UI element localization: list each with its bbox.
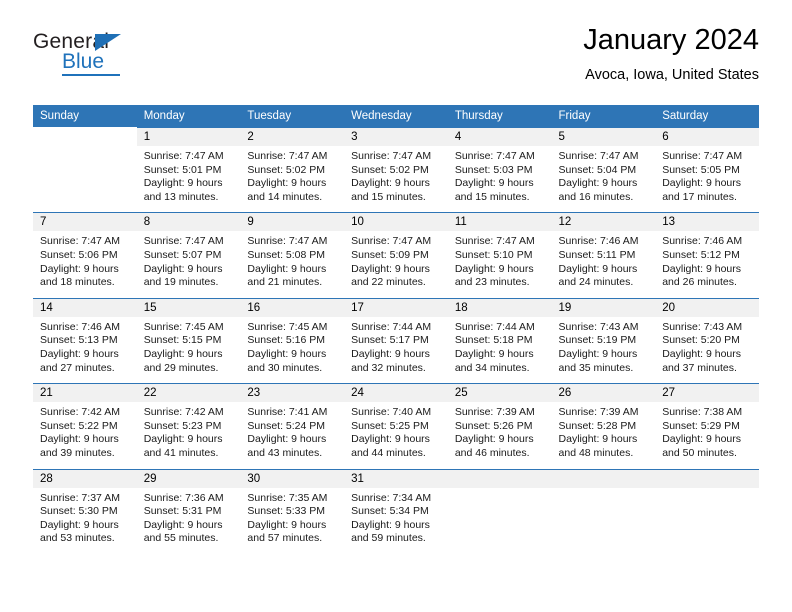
day-sun-info: Sunrise: 7:40 AMSunset: 5:25 PMDaylight:… bbox=[344, 402, 448, 468]
sunset-text: Sunset: 5:28 PM bbox=[559, 420, 652, 434]
calendar-day[interactable]: 7Sunrise: 7:47 AMSunset: 5:06 PMDaylight… bbox=[33, 212, 137, 297]
day-number: 17 bbox=[344, 299, 448, 317]
daylight-text-line2: and 29 minutes. bbox=[144, 362, 237, 376]
daylight-text-line2: and 24 minutes. bbox=[559, 276, 652, 290]
day-sun-info: Sunrise: 7:47 AMSunset: 5:01 PMDaylight:… bbox=[137, 146, 241, 212]
daylight-text-line1: Daylight: 9 hours bbox=[351, 348, 444, 362]
calendar-header: Sunday Monday Tuesday Wednesday Thursday… bbox=[33, 105, 759, 127]
daylight-text-line2: and 30 minutes. bbox=[247, 362, 340, 376]
daylight-text-line2: and 34 minutes. bbox=[455, 362, 548, 376]
sunset-text: Sunset: 5:22 PM bbox=[40, 420, 133, 434]
calendar-cell: 23Sunrise: 7:41 AMSunset: 5:24 PMDayligh… bbox=[240, 383, 344, 468]
sunrise-text: Sunrise: 7:47 AM bbox=[247, 150, 340, 164]
day-number: 14 bbox=[33, 299, 137, 317]
day-number: 8 bbox=[137, 213, 241, 231]
calendar-cell: 7Sunrise: 7:47 AMSunset: 5:06 PMDaylight… bbox=[33, 212, 137, 297]
day-number bbox=[33, 127, 137, 145]
calendar-cell: 29Sunrise: 7:36 AMSunset: 5:31 PMDayligh… bbox=[137, 469, 241, 554]
day-sun-info: Sunrise: 7:35 AMSunset: 5:33 PMDaylight:… bbox=[240, 488, 344, 554]
calendar-week-row: 21Sunrise: 7:42 AMSunset: 5:22 PMDayligh… bbox=[33, 383, 759, 468]
calendar-body: 1Sunrise: 7:47 AMSunset: 5:01 PMDaylight… bbox=[33, 127, 759, 554]
daylight-text-line1: Daylight: 9 hours bbox=[455, 348, 548, 362]
calendar-cell bbox=[552, 469, 656, 554]
sunset-text: Sunset: 5:02 PM bbox=[351, 164, 444, 178]
calendar-day[interactable]: 30Sunrise: 7:35 AMSunset: 5:33 PMDayligh… bbox=[240, 469, 344, 554]
day-sun-info: Sunrise: 7:47 AMSunset: 5:02 PMDaylight:… bbox=[344, 146, 448, 212]
sunset-text: Sunset: 5:19 PM bbox=[559, 334, 652, 348]
page-header: General Blue January 2024 Avoca, Iowa, U… bbox=[33, 22, 759, 94]
calendar-day[interactable]: 18Sunrise: 7:44 AMSunset: 5:18 PMDayligh… bbox=[448, 298, 552, 383]
day-number bbox=[552, 470, 656, 488]
daylight-text-line1: Daylight: 9 hours bbox=[351, 263, 444, 277]
daylight-text-line2: and 18 minutes. bbox=[40, 276, 133, 290]
daylight-text-line1: Daylight: 9 hours bbox=[40, 519, 133, 533]
daylight-text-line2: and 37 minutes. bbox=[662, 362, 755, 376]
weekday-header-saturday: Saturday bbox=[655, 105, 759, 127]
daylight-text-line1: Daylight: 9 hours bbox=[662, 433, 755, 447]
day-sun-info: Sunrise: 7:47 AMSunset: 5:09 PMDaylight:… bbox=[344, 231, 448, 297]
calendar-day[interactable]: 28Sunrise: 7:37 AMSunset: 5:30 PMDayligh… bbox=[33, 469, 137, 554]
day-sun-info: Sunrise: 7:39 AMSunset: 5:26 PMDaylight:… bbox=[448, 402, 552, 468]
sunset-text: Sunset: 5:01 PM bbox=[144, 164, 237, 178]
sunrise-text: Sunrise: 7:47 AM bbox=[351, 150, 444, 164]
calendar-cell bbox=[448, 469, 552, 554]
sunrise-text: Sunrise: 7:46 AM bbox=[40, 321, 133, 335]
calendar-cell: 6Sunrise: 7:47 AMSunset: 5:05 PMDaylight… bbox=[655, 127, 759, 212]
day-number: 23 bbox=[240, 384, 344, 402]
calendar-day[interactable]: 19Sunrise: 7:43 AMSunset: 5:19 PMDayligh… bbox=[552, 298, 656, 383]
day-number: 29 bbox=[137, 470, 241, 488]
calendar-day[interactable]: 26Sunrise: 7:39 AMSunset: 5:28 PMDayligh… bbox=[552, 383, 656, 468]
location-subtitle: Avoca, Iowa, United States bbox=[583, 64, 759, 86]
calendar-day[interactable]: 20Sunrise: 7:43 AMSunset: 5:20 PMDayligh… bbox=[655, 298, 759, 383]
sunrise-sunset-calendar: Sunday Monday Tuesday Wednesday Thursday… bbox=[33, 105, 759, 554]
daylight-text-line2: and 43 minutes. bbox=[247, 447, 340, 461]
page-title: January 2024 bbox=[583, 22, 759, 58]
calendar-day[interactable]: 10Sunrise: 7:47 AMSunset: 5:09 PMDayligh… bbox=[344, 212, 448, 297]
daylight-text-line2: and 39 minutes. bbox=[40, 447, 133, 461]
sunset-text: Sunset: 5:34 PM bbox=[351, 505, 444, 519]
day-sun-info: Sunrise: 7:39 AMSunset: 5:28 PMDaylight:… bbox=[552, 402, 656, 468]
day-number: 9 bbox=[240, 213, 344, 231]
daylight-text-line2: and 27 minutes. bbox=[40, 362, 133, 376]
weekday-header-row: Sunday Monday Tuesday Wednesday Thursday… bbox=[33, 105, 759, 127]
day-sun-info: Sunrise: 7:37 AMSunset: 5:30 PMDaylight:… bbox=[33, 488, 137, 554]
sunrise-text: Sunrise: 7:47 AM bbox=[662, 150, 755, 164]
calendar-day[interactable]: 13Sunrise: 7:46 AMSunset: 5:12 PMDayligh… bbox=[655, 212, 759, 297]
sunset-text: Sunset: 5:08 PM bbox=[247, 249, 340, 263]
sunset-text: Sunset: 5:15 PM bbox=[144, 334, 237, 348]
day-number: 31 bbox=[344, 470, 448, 488]
calendar-day[interactable]: 14Sunrise: 7:46 AMSunset: 5:13 PMDayligh… bbox=[33, 298, 137, 383]
daylight-text-line2: and 15 minutes. bbox=[455, 191, 548, 205]
sunset-text: Sunset: 5:18 PM bbox=[455, 334, 548, 348]
day-sun-info: Sunrise: 7:38 AMSunset: 5:29 PMDaylight:… bbox=[655, 402, 759, 468]
day-sun-info: Sunrise: 7:47 AMSunset: 5:08 PMDaylight:… bbox=[240, 231, 344, 297]
daylight-text-line2: and 41 minutes. bbox=[144, 447, 237, 461]
day-number bbox=[448, 470, 552, 488]
daylight-text-line1: Daylight: 9 hours bbox=[351, 177, 444, 191]
sunset-text: Sunset: 5:03 PM bbox=[455, 164, 548, 178]
calendar-day[interactable]: 9Sunrise: 7:47 AMSunset: 5:08 PMDaylight… bbox=[240, 212, 344, 297]
calendar-day[interactable]: 29Sunrise: 7:36 AMSunset: 5:31 PMDayligh… bbox=[137, 469, 241, 554]
daylight-text-line1: Daylight: 9 hours bbox=[144, 348, 237, 362]
calendar-day-empty bbox=[448, 469, 552, 554]
day-number: 7 bbox=[33, 213, 137, 231]
day-sun-info: Sunrise: 7:47 AMSunset: 5:04 PMDaylight:… bbox=[552, 146, 656, 212]
calendar-cell: 5Sunrise: 7:47 AMSunset: 5:04 PMDaylight… bbox=[552, 127, 656, 212]
daylight-text-line1: Daylight: 9 hours bbox=[455, 433, 548, 447]
title-block: January 2024 Avoca, Iowa, United States bbox=[583, 22, 759, 86]
sunset-text: Sunset: 5:13 PM bbox=[40, 334, 133, 348]
calendar-day[interactable]: 4Sunrise: 7:47 AMSunset: 5:03 PMDaylight… bbox=[448, 127, 552, 212]
sunrise-text: Sunrise: 7:44 AM bbox=[351, 321, 444, 335]
day-number: 12 bbox=[552, 213, 656, 231]
daylight-text-line1: Daylight: 9 hours bbox=[247, 263, 340, 277]
day-sun-info: Sunrise: 7:42 AMSunset: 5:23 PMDaylight:… bbox=[137, 402, 241, 468]
daylight-text-line1: Daylight: 9 hours bbox=[40, 433, 133, 447]
calendar-day[interactable]: 3Sunrise: 7:47 AMSunset: 5:02 PMDaylight… bbox=[344, 127, 448, 212]
day-sun-info: Sunrise: 7:47 AMSunset: 5:05 PMDaylight:… bbox=[655, 146, 759, 212]
daylight-text-line1: Daylight: 9 hours bbox=[559, 177, 652, 191]
day-sun-info: Sunrise: 7:47 AMSunset: 5:03 PMDaylight:… bbox=[448, 146, 552, 212]
daylight-text-line2: and 16 minutes. bbox=[559, 191, 652, 205]
day-number: 16 bbox=[240, 299, 344, 317]
day-number: 4 bbox=[448, 128, 552, 146]
calendar-cell: 22Sunrise: 7:42 AMSunset: 5:23 PMDayligh… bbox=[137, 383, 241, 468]
calendar-day[interactable]: 16Sunrise: 7:45 AMSunset: 5:16 PMDayligh… bbox=[240, 298, 344, 383]
daylight-text-line1: Daylight: 9 hours bbox=[144, 433, 237, 447]
daylight-text-line2: and 21 minutes. bbox=[247, 276, 340, 290]
calendar-cell bbox=[33, 127, 137, 212]
sunrise-text: Sunrise: 7:42 AM bbox=[40, 406, 133, 420]
sunset-text: Sunset: 5:30 PM bbox=[40, 505, 133, 519]
calendar-day-empty bbox=[655, 469, 759, 554]
daylight-text-line2: and 17 minutes. bbox=[662, 191, 755, 205]
sunrise-text: Sunrise: 7:43 AM bbox=[559, 321, 652, 335]
daylight-text-line2: and 26 minutes. bbox=[662, 276, 755, 290]
calendar-day[interactable]: 5Sunrise: 7:47 AMSunset: 5:04 PMDaylight… bbox=[552, 127, 656, 212]
daylight-text-line2: and 48 minutes. bbox=[559, 447, 652, 461]
sunrise-text: Sunrise: 7:34 AM bbox=[351, 492, 444, 506]
calendar-day[interactable]: 27Sunrise: 7:38 AMSunset: 5:29 PMDayligh… bbox=[655, 383, 759, 468]
calendar-cell: 10Sunrise: 7:47 AMSunset: 5:09 PMDayligh… bbox=[344, 212, 448, 297]
daylight-text-line1: Daylight: 9 hours bbox=[40, 263, 133, 277]
daylight-text-line1: Daylight: 9 hours bbox=[247, 519, 340, 533]
day-number: 5 bbox=[552, 128, 656, 146]
calendar-cell: 15Sunrise: 7:45 AMSunset: 5:15 PMDayligh… bbox=[137, 298, 241, 383]
sunrise-text: Sunrise: 7:44 AM bbox=[455, 321, 548, 335]
daylight-text-line1: Daylight: 9 hours bbox=[247, 433, 340, 447]
sunrise-text: Sunrise: 7:47 AM bbox=[144, 235, 237, 249]
calendar-cell: 31Sunrise: 7:34 AMSunset: 5:34 PMDayligh… bbox=[344, 469, 448, 554]
calendar-cell: 3Sunrise: 7:47 AMSunset: 5:02 PMDaylight… bbox=[344, 127, 448, 212]
sunrise-text: Sunrise: 7:47 AM bbox=[351, 235, 444, 249]
calendar-day[interactable]: 2Sunrise: 7:47 AMSunset: 5:02 PMDaylight… bbox=[240, 127, 344, 212]
sunrise-text: Sunrise: 7:45 AM bbox=[144, 321, 237, 335]
calendar-cell: 11Sunrise: 7:47 AMSunset: 5:10 PMDayligh… bbox=[448, 212, 552, 297]
calendar-cell: 8Sunrise: 7:47 AMSunset: 5:07 PMDaylight… bbox=[137, 212, 241, 297]
day-number bbox=[655, 470, 759, 488]
day-sun-info: Sunrise: 7:46 AMSunset: 5:13 PMDaylight:… bbox=[33, 317, 137, 383]
general-blue-logo[interactable]: General Blue bbox=[33, 30, 153, 82]
calendar-cell: 16Sunrise: 7:45 AMSunset: 5:16 PMDayligh… bbox=[240, 298, 344, 383]
day-number: 1 bbox=[137, 128, 241, 146]
calendar-day[interactable]: 22Sunrise: 7:42 AMSunset: 5:23 PMDayligh… bbox=[137, 383, 241, 468]
calendar-cell: 13Sunrise: 7:46 AMSunset: 5:12 PMDayligh… bbox=[655, 212, 759, 297]
sunset-text: Sunset: 5:02 PM bbox=[247, 164, 340, 178]
calendar-cell: 24Sunrise: 7:40 AMSunset: 5:25 PMDayligh… bbox=[344, 383, 448, 468]
logo-triangle-icon bbox=[95, 34, 121, 51]
daylight-text-line1: Daylight: 9 hours bbox=[144, 177, 237, 191]
daylight-text-line2: and 53 minutes. bbox=[40, 532, 133, 546]
sunrise-text: Sunrise: 7:47 AM bbox=[40, 235, 133, 249]
day-number: 26 bbox=[552, 384, 656, 402]
day-number: 10 bbox=[344, 213, 448, 231]
day-sun-info: Sunrise: 7:43 AMSunset: 5:19 PMDaylight:… bbox=[552, 317, 656, 383]
daylight-text-line2: and 22 minutes. bbox=[351, 276, 444, 290]
daylight-text-line2: and 44 minutes. bbox=[351, 447, 444, 461]
day-number: 21 bbox=[33, 384, 137, 402]
sunset-text: Sunset: 5:26 PM bbox=[455, 420, 548, 434]
daylight-text-line2: and 32 minutes. bbox=[351, 362, 444, 376]
day-number: 28 bbox=[33, 470, 137, 488]
sunset-text: Sunset: 5:25 PM bbox=[351, 420, 444, 434]
daylight-text-line2: and 50 minutes. bbox=[662, 447, 755, 461]
calendar-cell: 30Sunrise: 7:35 AMSunset: 5:33 PMDayligh… bbox=[240, 469, 344, 554]
sunrise-text: Sunrise: 7:47 AM bbox=[559, 150, 652, 164]
daylight-text-line1: Daylight: 9 hours bbox=[559, 263, 652, 277]
sunset-text: Sunset: 5:29 PM bbox=[662, 420, 755, 434]
sunrise-text: Sunrise: 7:38 AM bbox=[662, 406, 755, 420]
day-sun-info: Sunrise: 7:47 AMSunset: 5:06 PMDaylight:… bbox=[33, 231, 137, 297]
calendar-cell: 25Sunrise: 7:39 AMSunset: 5:26 PMDayligh… bbox=[448, 383, 552, 468]
day-sun-info: Sunrise: 7:45 AMSunset: 5:16 PMDaylight:… bbox=[240, 317, 344, 383]
sunset-text: Sunset: 5:24 PM bbox=[247, 420, 340, 434]
sunset-text: Sunset: 5:04 PM bbox=[559, 164, 652, 178]
day-sun-info: Sunrise: 7:34 AMSunset: 5:34 PMDaylight:… bbox=[344, 488, 448, 554]
daylight-text-line2: and 57 minutes. bbox=[247, 532, 340, 546]
daylight-text-line1: Daylight: 9 hours bbox=[559, 433, 652, 447]
weekday-header-tuesday: Tuesday bbox=[240, 105, 344, 127]
sunset-text: Sunset: 5:11 PM bbox=[559, 249, 652, 263]
day-sun-info: Sunrise: 7:36 AMSunset: 5:31 PMDaylight:… bbox=[137, 488, 241, 554]
calendar-cell: 20Sunrise: 7:43 AMSunset: 5:20 PMDayligh… bbox=[655, 298, 759, 383]
day-number: 25 bbox=[448, 384, 552, 402]
sunrise-text: Sunrise: 7:42 AM bbox=[144, 406, 237, 420]
daylight-text-line2: and 59 minutes. bbox=[351, 532, 444, 546]
day-number: 11 bbox=[448, 213, 552, 231]
calendar-day[interactable]: 21Sunrise: 7:42 AMSunset: 5:22 PMDayligh… bbox=[33, 383, 137, 468]
day-number: 15 bbox=[137, 299, 241, 317]
daylight-text-line1: Daylight: 9 hours bbox=[144, 519, 237, 533]
day-number: 19 bbox=[552, 299, 656, 317]
daylight-text-line1: Daylight: 9 hours bbox=[144, 263, 237, 277]
sunrise-text: Sunrise: 7:46 AM bbox=[559, 235, 652, 249]
sunset-text: Sunset: 5:05 PM bbox=[662, 164, 755, 178]
calendar-day-empty bbox=[552, 469, 656, 554]
daylight-text-line1: Daylight: 9 hours bbox=[662, 177, 755, 191]
calendar-cell: 17Sunrise: 7:44 AMSunset: 5:17 PMDayligh… bbox=[344, 298, 448, 383]
calendar-day[interactable]: 12Sunrise: 7:46 AMSunset: 5:11 PMDayligh… bbox=[552, 212, 656, 297]
daylight-text-line1: Daylight: 9 hours bbox=[455, 263, 548, 277]
day-number: 13 bbox=[655, 213, 759, 231]
calendar-cell: 27Sunrise: 7:38 AMSunset: 5:29 PMDayligh… bbox=[655, 383, 759, 468]
sunset-text: Sunset: 5:17 PM bbox=[351, 334, 444, 348]
calendar-day[interactable]: 11Sunrise: 7:47 AMSunset: 5:10 PMDayligh… bbox=[448, 212, 552, 297]
logo-text-blue: Blue bbox=[62, 50, 104, 74]
calendar-day[interactable]: 15Sunrise: 7:45 AMSunset: 5:15 PMDayligh… bbox=[137, 298, 241, 383]
daylight-text-line2: and 13 minutes. bbox=[144, 191, 237, 205]
calendar-week-row: 28Sunrise: 7:37 AMSunset: 5:30 PMDayligh… bbox=[33, 469, 759, 554]
day-sun-info: Sunrise: 7:43 AMSunset: 5:20 PMDaylight:… bbox=[655, 317, 759, 383]
sunrise-text: Sunrise: 7:47 AM bbox=[144, 150, 237, 164]
day-number: 22 bbox=[137, 384, 241, 402]
daylight-text-line1: Daylight: 9 hours bbox=[351, 433, 444, 447]
day-sun-info: Sunrise: 7:44 AMSunset: 5:18 PMDaylight:… bbox=[448, 317, 552, 383]
calendar-cell: 21Sunrise: 7:42 AMSunset: 5:22 PMDayligh… bbox=[33, 383, 137, 468]
calendar-day[interactable]: 24Sunrise: 7:40 AMSunset: 5:25 PMDayligh… bbox=[344, 383, 448, 468]
daylight-text-line2: and 19 minutes. bbox=[144, 276, 237, 290]
calendar-cell: 4Sunrise: 7:47 AMSunset: 5:03 PMDaylight… bbox=[448, 127, 552, 212]
sunrise-text: Sunrise: 7:43 AM bbox=[662, 321, 755, 335]
day-sun-info: Sunrise: 7:44 AMSunset: 5:17 PMDaylight:… bbox=[344, 317, 448, 383]
calendar-day[interactable]: 1Sunrise: 7:47 AMSunset: 5:01 PMDaylight… bbox=[137, 127, 241, 212]
calendar-cell: 26Sunrise: 7:39 AMSunset: 5:28 PMDayligh… bbox=[552, 383, 656, 468]
logo-underline bbox=[62, 74, 120, 76]
calendar-day[interactable]: 23Sunrise: 7:41 AMSunset: 5:24 PMDayligh… bbox=[240, 383, 344, 468]
calendar-week-row: 7Sunrise: 7:47 AMSunset: 5:06 PMDaylight… bbox=[33, 212, 759, 297]
daylight-text-line1: Daylight: 9 hours bbox=[40, 348, 133, 362]
calendar-day-empty bbox=[33, 127, 137, 211]
weekday-header-monday: Monday bbox=[137, 105, 241, 127]
calendar-cell: 18Sunrise: 7:44 AMSunset: 5:18 PMDayligh… bbox=[448, 298, 552, 383]
daylight-text-line2: and 55 minutes. bbox=[144, 532, 237, 546]
calendar-day[interactable]: 25Sunrise: 7:39 AMSunset: 5:26 PMDayligh… bbox=[448, 383, 552, 468]
day-number: 3 bbox=[344, 128, 448, 146]
calendar-cell: 9Sunrise: 7:47 AMSunset: 5:08 PMDaylight… bbox=[240, 212, 344, 297]
calendar-cell: 14Sunrise: 7:46 AMSunset: 5:13 PMDayligh… bbox=[33, 298, 137, 383]
day-sun-info: Sunrise: 7:47 AMSunset: 5:02 PMDaylight:… bbox=[240, 146, 344, 212]
daylight-text-line1: Daylight: 9 hours bbox=[559, 348, 652, 362]
sunrise-text: Sunrise: 7:47 AM bbox=[455, 235, 548, 249]
day-number: 30 bbox=[240, 470, 344, 488]
day-number: 20 bbox=[655, 299, 759, 317]
daylight-text-line1: Daylight: 9 hours bbox=[455, 177, 548, 191]
day-sun-info: Sunrise: 7:45 AMSunset: 5:15 PMDaylight:… bbox=[137, 317, 241, 383]
sunset-text: Sunset: 5:20 PM bbox=[662, 334, 755, 348]
daylight-text-line1: Daylight: 9 hours bbox=[351, 519, 444, 533]
daylight-text-line2: and 23 minutes. bbox=[455, 276, 548, 290]
sunset-text: Sunset: 5:31 PM bbox=[144, 505, 237, 519]
day-sun-info: Sunrise: 7:41 AMSunset: 5:24 PMDaylight:… bbox=[240, 402, 344, 468]
sunrise-text: Sunrise: 7:46 AM bbox=[662, 235, 755, 249]
calendar-day[interactable]: 6Sunrise: 7:47 AMSunset: 5:05 PMDaylight… bbox=[655, 127, 759, 212]
day-sun-info: Sunrise: 7:46 AMSunset: 5:12 PMDaylight:… bbox=[655, 231, 759, 297]
sunrise-text: Sunrise: 7:45 AM bbox=[247, 321, 340, 335]
calendar-day[interactable]: 8Sunrise: 7:47 AMSunset: 5:07 PMDaylight… bbox=[137, 212, 241, 297]
calendar-cell: 2Sunrise: 7:47 AMSunset: 5:02 PMDaylight… bbox=[240, 127, 344, 212]
daylight-text-line1: Daylight: 9 hours bbox=[247, 177, 340, 191]
daylight-text-line1: Daylight: 9 hours bbox=[662, 348, 755, 362]
weekday-header-thursday: Thursday bbox=[448, 105, 552, 127]
calendar-cell: 1Sunrise: 7:47 AMSunset: 5:01 PMDaylight… bbox=[137, 127, 241, 212]
day-number: 18 bbox=[448, 299, 552, 317]
daylight-text-line2: and 15 minutes. bbox=[351, 191, 444, 205]
calendar-cell: 28Sunrise: 7:37 AMSunset: 5:30 PMDayligh… bbox=[33, 469, 137, 554]
sunrise-text: Sunrise: 7:40 AM bbox=[351, 406, 444, 420]
sunrise-text: Sunrise: 7:36 AM bbox=[144, 492, 237, 506]
sunset-text: Sunset: 5:09 PM bbox=[351, 249, 444, 263]
sunset-text: Sunset: 5:16 PM bbox=[247, 334, 340, 348]
sunrise-text: Sunrise: 7:41 AM bbox=[247, 406, 340, 420]
day-number: 24 bbox=[344, 384, 448, 402]
daylight-text-line2: and 46 minutes. bbox=[455, 447, 548, 461]
day-sun-info: Sunrise: 7:47 AMSunset: 5:07 PMDaylight:… bbox=[137, 231, 241, 297]
calendar-cell: 12Sunrise: 7:46 AMSunset: 5:11 PMDayligh… bbox=[552, 212, 656, 297]
day-sun-info: Sunrise: 7:42 AMSunset: 5:22 PMDaylight:… bbox=[33, 402, 137, 468]
day-number: 2 bbox=[240, 128, 344, 146]
calendar-week-row: 1Sunrise: 7:47 AMSunset: 5:01 PMDaylight… bbox=[33, 127, 759, 212]
sunset-text: Sunset: 5:10 PM bbox=[455, 249, 548, 263]
calendar-day[interactable]: 31Sunrise: 7:34 AMSunset: 5:34 PMDayligh… bbox=[344, 469, 448, 554]
sunrise-text: Sunrise: 7:47 AM bbox=[247, 235, 340, 249]
sunrise-text: Sunrise: 7:47 AM bbox=[455, 150, 548, 164]
sunset-text: Sunset: 5:23 PM bbox=[144, 420, 237, 434]
weekday-header-sunday: Sunday bbox=[33, 105, 137, 127]
calendar-cell bbox=[655, 469, 759, 554]
day-sun-info: Sunrise: 7:47 AMSunset: 5:10 PMDaylight:… bbox=[448, 231, 552, 297]
daylight-text-line2: and 35 minutes. bbox=[559, 362, 652, 376]
weekday-header-friday: Friday bbox=[552, 105, 656, 127]
sunrise-text: Sunrise: 7:37 AM bbox=[40, 492, 133, 506]
sunrise-text: Sunrise: 7:39 AM bbox=[455, 406, 548, 420]
sunset-text: Sunset: 5:33 PM bbox=[247, 505, 340, 519]
day-number: 27 bbox=[655, 384, 759, 402]
sunrise-text: Sunrise: 7:35 AM bbox=[247, 492, 340, 506]
calendar-week-row: 14Sunrise: 7:46 AMSunset: 5:13 PMDayligh… bbox=[33, 298, 759, 383]
daylight-text-line2: and 14 minutes. bbox=[247, 191, 340, 205]
daylight-text-line1: Daylight: 9 hours bbox=[662, 263, 755, 277]
daylight-text-line1: Daylight: 9 hours bbox=[247, 348, 340, 362]
calendar-day[interactable]: 17Sunrise: 7:44 AMSunset: 5:17 PMDayligh… bbox=[344, 298, 448, 383]
sunrise-text: Sunrise: 7:39 AM bbox=[559, 406, 652, 420]
day-sun-info: Sunrise: 7:46 AMSunset: 5:11 PMDaylight:… bbox=[552, 231, 656, 297]
calendar-cell: 19Sunrise: 7:43 AMSunset: 5:19 PMDayligh… bbox=[552, 298, 656, 383]
sunset-text: Sunset: 5:07 PM bbox=[144, 249, 237, 263]
weekday-header-wednesday: Wednesday bbox=[344, 105, 448, 127]
sunset-text: Sunset: 5:06 PM bbox=[40, 249, 133, 263]
day-number: 6 bbox=[655, 128, 759, 146]
sunset-text: Sunset: 5:12 PM bbox=[662, 249, 755, 263]
